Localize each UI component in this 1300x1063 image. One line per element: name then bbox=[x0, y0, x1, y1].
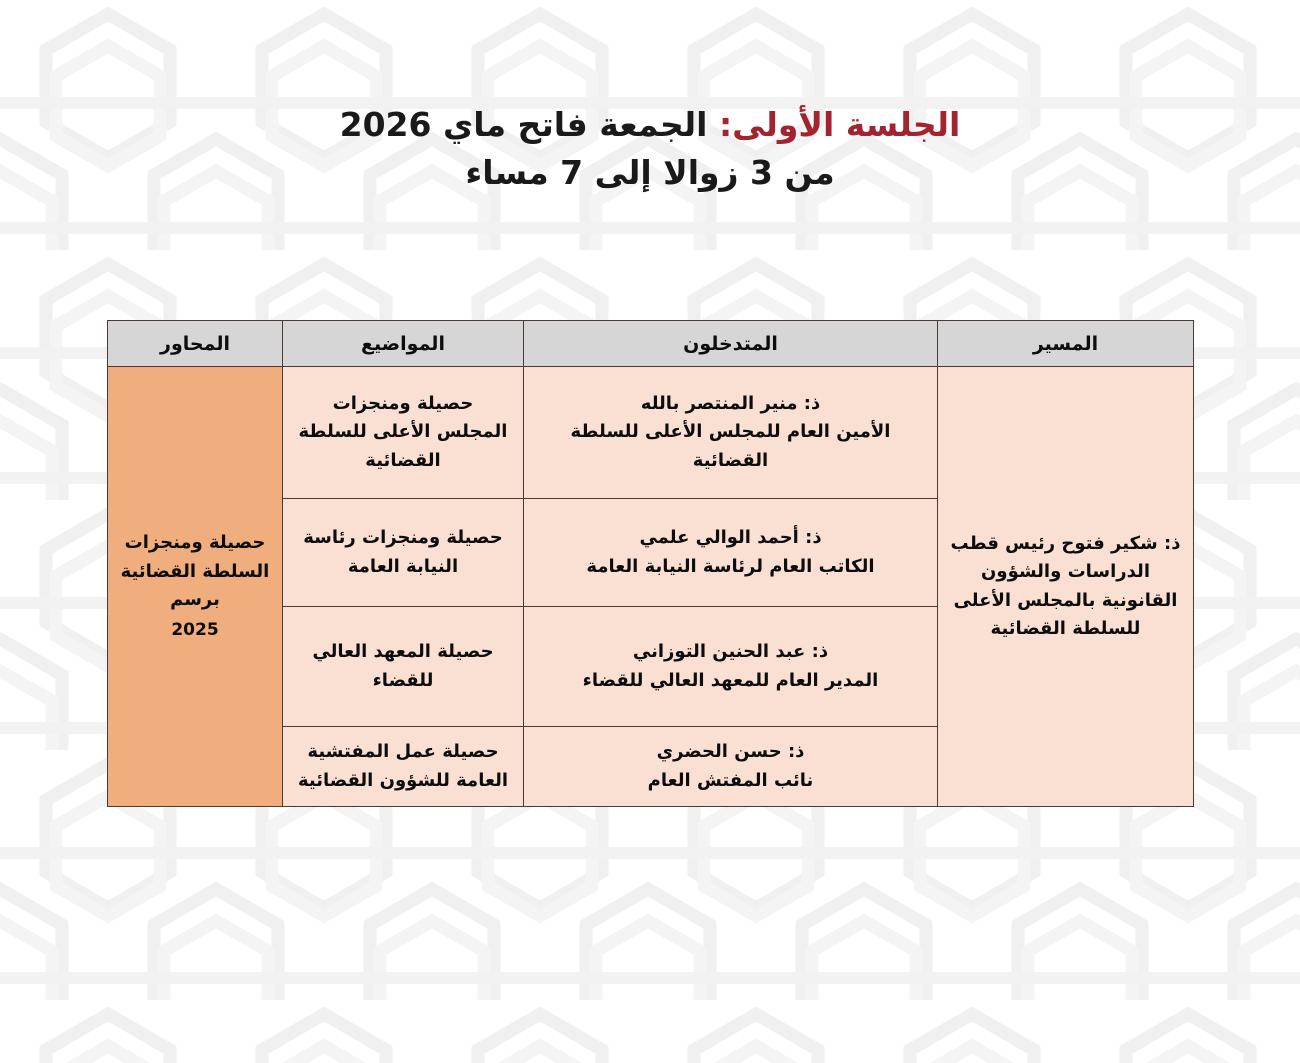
topic-line-1: حصيلة ومنجزات رئاسة bbox=[289, 524, 517, 552]
speaker-role-line-2: القضائية bbox=[530, 447, 931, 475]
column-header-speakers: المتدخلون bbox=[524, 321, 938, 367]
column-header-moderator: المسير bbox=[938, 321, 1194, 367]
topic-line-1: حصيلة عمل المفتشية bbox=[289, 738, 517, 766]
moderator-name: ذ: شكير فتوح bbox=[1061, 533, 1180, 554]
title-session-label: الجلسة الأولى: bbox=[719, 105, 960, 144]
topic-line-3: القضائية bbox=[289, 447, 517, 475]
topic-cell: حصيلة المعهد العالي للقضاء bbox=[283, 607, 524, 727]
topic-line-2: للقضاء bbox=[289, 667, 517, 695]
topic-cell: حصيلة ومنجزات المجلس الأعلى للسلطة القضا… bbox=[283, 367, 524, 499]
topic-line-2: النيابة العامة bbox=[289, 553, 517, 581]
speaker-cell: ذ: حسن الحضري نائب المفتش العام bbox=[524, 727, 938, 807]
theme-year: 2025 bbox=[114, 617, 276, 644]
speaker-name: ذ: منير المنتصر بالله bbox=[530, 390, 931, 418]
table-header: المسير المتدخلون المواضيع المحاور bbox=[108, 321, 1194, 367]
column-header-topics: المواضيع bbox=[283, 321, 524, 367]
title-session-date: الجمعة فاتح ماي 2026 bbox=[340, 105, 719, 144]
speaker-name: ذ: عبد الحنين التوزاني bbox=[530, 638, 931, 666]
session-schedule-table: المسير المتدخلون المواضيع المحاور ذ: شكي… bbox=[107, 320, 1194, 807]
speaker-role-line-1: الأمين العام للمجلس الأعلى للسلطة bbox=[530, 418, 931, 446]
theme-cell: حصيلة ومنجزات السلطة القضائية برسم 2025 bbox=[108, 367, 283, 807]
moderator-role-line-4: القضائية bbox=[991, 618, 1066, 639]
table-row: ذ: شكير فتوح رئيس قطب الدراسات والشؤون ا… bbox=[108, 367, 1194, 499]
title-line-1: الجلسة الأولى: الجمعة فاتح ماي 2026 bbox=[0, 104, 1300, 146]
moderator-cell: ذ: شكير فتوح رئيس قطب الدراسات والشؤون ا… bbox=[938, 367, 1194, 807]
speaker-name: ذ: حسن الحضري bbox=[530, 738, 931, 766]
speaker-cell: ذ: منير المنتصر بالله الأمين العام للمجل… bbox=[524, 367, 938, 499]
slide-page: الجلسة الأولى: الجمعة فاتح ماي 2026 من 3… bbox=[0, 0, 1300, 1063]
topic-cell: حصيلة ومنجزات رئاسة النيابة العامة bbox=[283, 499, 524, 607]
table-header-row: المسير المتدخلون المواضيع المحاور bbox=[108, 321, 1194, 367]
topic-line-1: حصيلة المعهد العالي bbox=[289, 638, 517, 666]
table-body: ذ: شكير فتوح رئيس قطب الدراسات والشؤون ا… bbox=[108, 367, 1194, 807]
topic-line-2: العامة للشؤون القضائية bbox=[289, 767, 517, 795]
speaker-role-line-1: الكاتب العام لرئاسة النيابة العامة bbox=[530, 553, 931, 581]
title-line-2: من 3 زوالا إلى 7 مساء bbox=[0, 152, 1300, 194]
theme-text: حصيلة ومنجزات السلطة القضائية برسم bbox=[121, 532, 270, 610]
page-title: الجلسة الأولى: الجمعة فاتح ماي 2026 من 3… bbox=[0, 104, 1300, 194]
speaker-cell: ذ: أحمد الوالي علمي الكاتب العام لرئاسة … bbox=[524, 499, 938, 607]
column-header-themes: المحاور bbox=[108, 321, 283, 367]
speaker-cell: ذ: عبد الحنين التوزاني المدير العام للمع… bbox=[524, 607, 938, 727]
topic-line-2: المجلس الأعلى للسلطة bbox=[289, 418, 517, 446]
speaker-role-line-1: المدير العام للمعهد العالي للقضاء bbox=[530, 667, 931, 695]
speaker-role-line-1: نائب المفتش العام bbox=[530, 767, 931, 795]
topic-line-1: حصيلة ومنجزات bbox=[289, 390, 517, 418]
speaker-name: ذ: أحمد الوالي علمي bbox=[530, 524, 931, 552]
topic-cell: حصيلة عمل المفتشية العامة للشؤون القضائي… bbox=[283, 727, 524, 807]
